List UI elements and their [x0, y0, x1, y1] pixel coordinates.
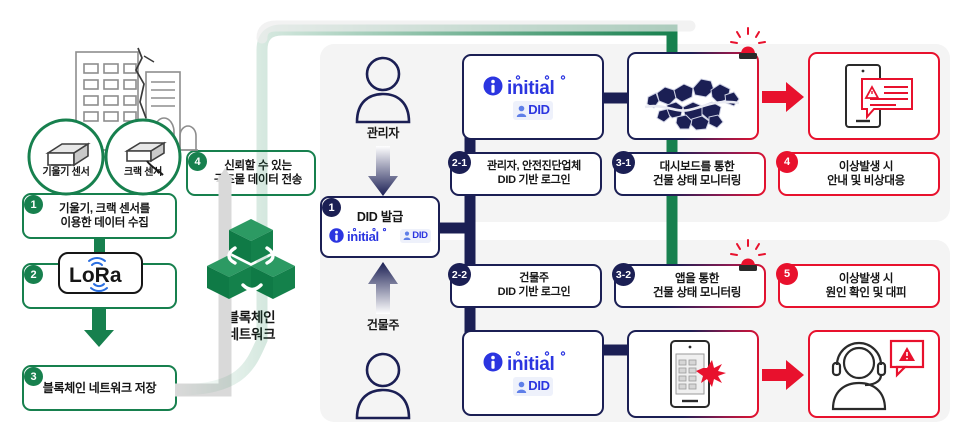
blockchain-cubes-icon	[205, 215, 297, 305]
response-step-4-box: 이상발생 시 안내 및 비상대응	[778, 152, 940, 196]
phone-alert-card	[808, 52, 940, 140]
owner-person-icon	[352, 348, 414, 418]
siren-icon-top	[728, 28, 768, 62]
login-step-2-1-badge: 2-1	[448, 151, 471, 174]
arrow-map-to-alert	[762, 82, 806, 114]
did-chip-issue: DID	[400, 229, 430, 243]
response-5-line2: 원인 확인 및 대피	[826, 286, 907, 300]
did-issue-title: DID 발급	[357, 210, 403, 226]
blockchain-label-line1: 블록체인	[198, 310, 304, 327]
left-step-1-line2: 이용한 데이터 수집	[59, 216, 150, 230]
dashboard-map-card	[627, 52, 759, 140]
initial-logo-did-issue: initial DID	[329, 227, 430, 244]
left-step-2-badge: 2	[24, 265, 43, 284]
crack-sensor-icon	[103, 117, 183, 197]
blockchain-label-line2: 네트워크	[198, 327, 304, 344]
response-step-5-badge: 5	[776, 263, 798, 285]
phone-warning-message-icon	[824, 61, 924, 131]
trusted-badge: 4	[188, 152, 207, 171]
response-5-line1: 이상발생 시	[826, 272, 907, 286]
login-2-2-line1: 건물주	[498, 272, 571, 286]
headset-agent-warning-icon	[819, 337, 929, 411]
response-step-4-badge: 4	[776, 151, 798, 173]
monitor-step-3-2-badge: 3-2	[612, 263, 635, 286]
tilt-sensor-icon	[26, 117, 106, 197]
did-chip-top: DID	[513, 101, 553, 119]
monitor-step-3-1-box: 대시보드를 통한 건물 상태 모니터링	[614, 152, 766, 196]
login-step-2-2-badge: 2-2	[448, 263, 471, 286]
initial-wordmark-top: initial	[507, 78, 555, 99]
svg-text:LoRa: LoRa	[69, 264, 122, 287]
owner-label: 건물주	[348, 318, 418, 332]
trusted-line1: 신뢰할 수 있는	[214, 159, 302, 173]
monitor-3-1-line1: 대시보드를 통한	[653, 160, 741, 174]
login-step-2-2-box: 건물주 DID 기반 로그인	[450, 264, 602, 308]
initial-logo-top: initial	[483, 74, 583, 98]
left-step-1-line1: 기울기, 크랙 센서를	[59, 202, 150, 216]
crack-sensor-label: 크랙 센서	[103, 167, 183, 179]
arrow-owner-up	[365, 262, 401, 314]
left-step-1-box: 기울기, 크랙 센서를 이용한 데이터 수집	[22, 193, 177, 239]
did-chip-top-text: DID	[528, 102, 550, 118]
monitor-3-1-line2: 건물 상태 모니터링	[653, 174, 741, 188]
initial-logo-bottom: initial	[483, 350, 583, 374]
initial-card-manager: initial DID	[462, 54, 604, 140]
seoul-map-icon	[639, 63, 747, 129]
arrow-app-to-agent	[762, 360, 806, 392]
manager-person-icon	[352, 52, 414, 122]
monitor-3-2-line2: 건물 상태 모니터링	[653, 286, 741, 300]
did-issue-badge: 1	[322, 198, 341, 217]
arrow-step2-step3	[82, 308, 118, 348]
trusted-line2: 구조물 데이터 전송	[214, 173, 302, 187]
initial-wordmark-bottom: initial	[507, 354, 555, 375]
left-step-3-badge: 3	[24, 367, 43, 386]
phone-alert-icon	[645, 338, 741, 410]
left-step-3-box: 블록체인 네트워크 저장	[22, 365, 177, 411]
did-chip-issue-text: DID	[412, 230, 427, 242]
login-step-2-1-box: 관리자, 안전진단업체 DID 기반 로그인	[450, 152, 602, 196]
tilt-sensor-label: 기울기 센서	[26, 167, 106, 179]
arrow-manager-down	[365, 146, 401, 198]
manager-label: 관리자	[348, 126, 418, 140]
login-2-2-line2: DID 기반 로그인	[498, 286, 571, 300]
did-chip-bottom: DID	[513, 377, 553, 395]
siren-icon-bottom	[728, 240, 768, 274]
login-2-1-line1: 관리자, 안전진단업체	[487, 160, 581, 174]
response-4-line1: 이상발생 시	[827, 160, 905, 174]
response-step-5-box: 이상발생 시 원인 확인 및 대피	[778, 264, 940, 308]
lora-box: LoRa	[58, 252, 143, 294]
response-4-line2: 안내 및 비상대응	[827, 174, 905, 188]
did-chip-bottom-text: DID	[528, 378, 550, 394]
login-2-1-line2: DID 기반 로그인	[487, 174, 581, 188]
diagram-canvas: 기울기 센서 크랙 센서 기울기, 크랙 센서를 이용한 데이터 수집 1 Lo…	[0, 0, 960, 442]
initial-wordmark-did-issue: initial	[347, 229, 379, 244]
monitor-step-3-1-badge: 3-1	[612, 151, 635, 174]
blockchain-network-label: 블록체인 네트워크	[198, 310, 304, 344]
agent-alert-card	[808, 330, 940, 418]
left-step-3-line1: 블록체인 네트워크 저장	[43, 381, 156, 396]
left-step-1-badge: 1	[24, 195, 43, 214]
app-monitor-card	[627, 330, 759, 418]
initial-card-owner: initial DID	[462, 330, 604, 416]
